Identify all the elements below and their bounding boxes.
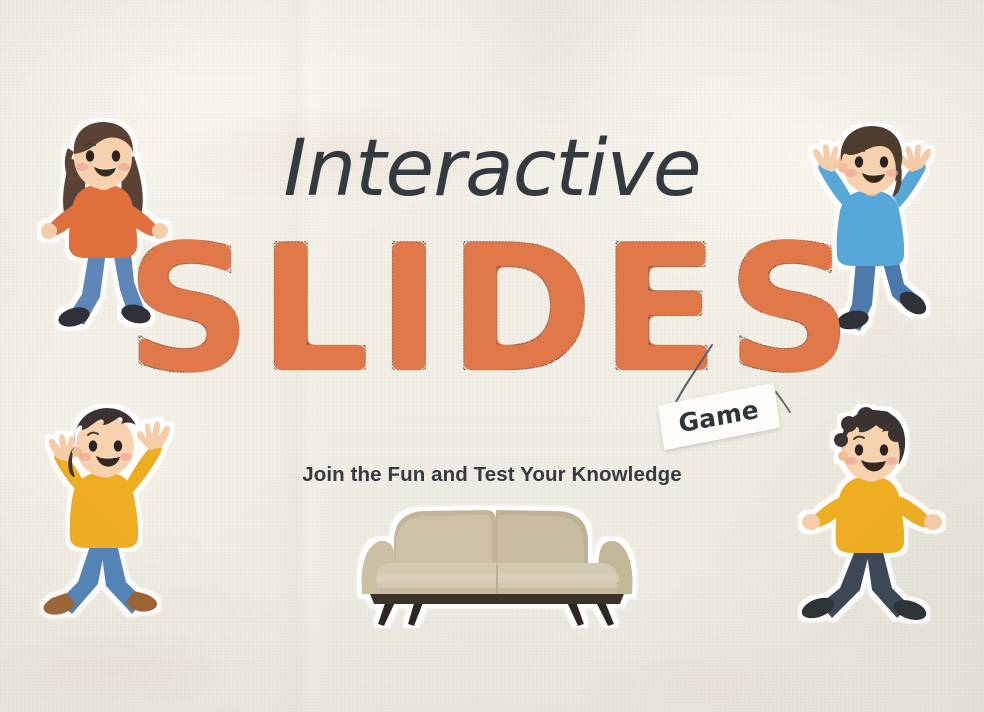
headline-slides-dotted-outline: SLIDES [0,222,984,398]
page-title: Interactive [0,124,984,214]
character-boy-walking [796,404,948,630]
game-tag-label: Game [677,395,761,439]
subtitle: Join the Fun and Test Your Knowledge [0,463,984,487]
character-boy-waving [30,404,182,626]
prop-sofa [352,498,642,628]
slide-canvas: Interactive SLIDES SLIDES Join the Fun a… [0,0,984,712]
